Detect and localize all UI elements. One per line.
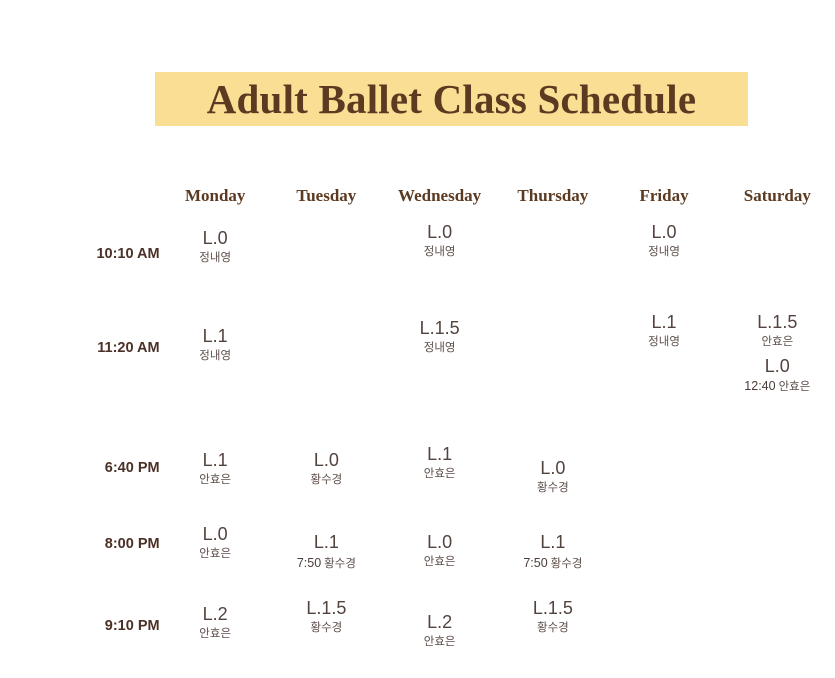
class-instructor: 안효은 [424, 556, 456, 568]
day-header-saturday: Saturday [720, 186, 835, 222]
class-level: L.1 [608, 312, 719, 333]
empty-slot [271, 318, 382, 319]
class-level: L.1 [382, 444, 497, 465]
class-entry[interactable]: L.17:50황수경 [271, 532, 382, 572]
class-instructor: 황수경 [310, 622, 342, 634]
class-entry[interactable]: L.1안효은 [160, 450, 271, 488]
class-meta: 황수경 [271, 473, 382, 488]
class-entry[interactable]: L.1안효은 [382, 444, 497, 482]
class-cell-friday-3 [608, 440, 719, 518]
day-header-tuesday: Tuesday [271, 186, 382, 222]
class-entry[interactable]: L.1.5황수경 [497, 598, 608, 636]
schedule-row: 10:10 AML.0정내영L.0정내영L.0정내영 [0, 222, 835, 314]
class-cell-wednesday-5[interactable]: L.2안효은 [382, 604, 497, 678]
class-cell-tuesday-2 [271, 314, 382, 440]
class-instructor: 황수경 [551, 558, 583, 570]
class-cell-thursday-1 [497, 222, 608, 314]
class-cell-friday-1[interactable]: L.0정내영 [608, 216, 719, 308]
class-level: L.0 [382, 532, 497, 553]
class-cell-thursday-5[interactable]: L.1.5황수경 [497, 590, 608, 664]
class-instructor: 안효은 [424, 636, 456, 648]
class-instructor: 정내영 [648, 246, 680, 258]
class-cell-thursday-2 [497, 314, 608, 440]
class-cell-monday-4[interactable]: L.0안효은 [160, 518, 271, 596]
class-instructor: 안효은 [199, 628, 231, 640]
class-instructor: 안효은 [761, 336, 793, 348]
class-meta: 안효은 [720, 335, 835, 350]
class-entry[interactable]: L.0안효은 [382, 532, 497, 570]
class-level: L.0 [720, 356, 835, 377]
empty-slot [720, 450, 835, 451]
class-meta: 정내영 [608, 245, 719, 260]
class-cell-monday-1[interactable]: L.0정내영 [160, 222, 271, 314]
class-meta: 안효은 [160, 627, 271, 642]
class-entry[interactable]: L.2안효은 [382, 612, 497, 650]
class-instructor: 정내영 [648, 336, 680, 348]
class-instructor: 정내영 [424, 342, 456, 354]
class-instructor: 안효은 [199, 474, 231, 486]
class-meta: 안효은 [160, 547, 271, 562]
class-meta: 정내영 [160, 251, 271, 266]
class-meta: 안효은 [382, 635, 497, 650]
class-level: L.1.5 [720, 312, 835, 333]
class-cell-tuesday-5[interactable]: L.1.5황수경 [271, 590, 382, 664]
class-entry[interactable]: L.0안효은 [160, 524, 271, 562]
class-level: L.0 [271, 450, 382, 471]
class-cell-wednesday-1[interactable]: L.0정내영 [382, 216, 497, 308]
class-cell-monday-2[interactable]: L.1정내영 [160, 322, 271, 448]
schedule-table: Monday Tuesday Wednesday Thursday Friday… [0, 186, 835, 670]
class-cell-saturday-3 [720, 440, 835, 518]
class-entry[interactable]: L.1정내영 [608, 312, 719, 350]
class-instructor: 황수경 [310, 474, 342, 486]
class-meta: 7:50황수경 [271, 555, 382, 572]
class-instructor: 정내영 [424, 246, 456, 258]
class-meta: 황수경 [497, 481, 608, 496]
class-cell-saturday-5 [720, 596, 835, 670]
class-instructor: 안효은 [424, 468, 456, 480]
class-entry[interactable]: L.0황수경 [497, 458, 608, 496]
empty-slot [271, 228, 382, 229]
class-entry[interactable]: L.1정내영 [160, 326, 271, 364]
day-header-monday: Monday [160, 186, 271, 222]
schedule-row: 11:20 AML.1정내영L.1.5정내영L.1정내영L.1.5안효은L.01… [0, 314, 835, 440]
class-meta: 안효은 [382, 555, 497, 570]
schedule-row: 9:10 PML.2안효은L.1.5황수경L.2안효은L.1.5황수경 [0, 596, 835, 670]
schedule-table-container: Monday Tuesday Wednesday Thursday Friday… [0, 186, 835, 670]
class-level: L.1 [160, 326, 271, 347]
empty-slot [608, 524, 719, 525]
class-level: L.0 [160, 524, 271, 545]
class-meta: 황수경 [497, 621, 608, 636]
time-label-4: 8:00 PM [0, 518, 160, 596]
class-level: L.1.5 [382, 318, 497, 339]
time-label-3: 6:40 PM [0, 440, 160, 518]
class-level: L.1 [160, 450, 271, 471]
class-level: L.2 [160, 604, 271, 625]
class-entry[interactable]: L.1.5황수경 [271, 598, 382, 636]
class-cell-saturday-4 [720, 518, 835, 596]
class-level: L.0 [497, 458, 608, 479]
class-cell-friday-5 [608, 596, 719, 670]
class-instructor: 황수경 [324, 558, 356, 570]
class-instructor: 안효은 [199, 548, 231, 560]
class-entry[interactable]: L.2안효은 [160, 604, 271, 642]
class-level: L.1.5 [271, 598, 382, 619]
empty-slot [497, 318, 608, 319]
class-cell-friday-2[interactable]: L.1정내영 [608, 308, 719, 434]
time-label-1: 10:10 AM [0, 222, 160, 314]
class-level: L.1.5 [497, 598, 608, 619]
class-cell-thursday-3[interactable]: L.0황수경 [497, 448, 608, 526]
empty-slot [608, 450, 719, 451]
class-cell-tuesday-1 [271, 222, 382, 314]
class-meta: 정내영 [382, 245, 497, 260]
class-cell-wednesday-4[interactable]: L.0안효은 [382, 526, 497, 604]
class-entry[interactable]: L.012:40안효은 [720, 356, 835, 396]
schedule-row: 8:00 PML.0안효은L.17:50황수경L.0안효은L.17:50황수경 [0, 518, 835, 596]
header-corner-blank [0, 186, 160, 222]
class-meta: 정내영 [608, 335, 719, 350]
class-cell-tuesday-3[interactable]: L.0황수경 [271, 440, 382, 518]
title-banner: Adult Ballet Class Schedule [155, 72, 748, 126]
empty-slot [720, 604, 835, 605]
class-level: L.0 [382, 222, 497, 243]
class-cell-wednesday-2[interactable]: L.1.5정내영 [382, 314, 497, 440]
class-entry[interactable]: L.0정내영 [382, 222, 497, 260]
class-cell-monday-5[interactable]: L.2안효은 [160, 596, 271, 670]
class-cell-monday-3[interactable]: L.1안효은 [160, 440, 271, 518]
class-start-time: 12:40 [744, 379, 775, 393]
class-level: L.1 [271, 532, 382, 553]
class-cell-saturday-1 [720, 222, 835, 314]
class-start-time: 7:50 [297, 556, 321, 570]
class-meta: 황수경 [271, 621, 382, 636]
empty-slot [608, 604, 719, 605]
class-level: L.0 [608, 222, 719, 243]
class-cell-wednesday-3[interactable]: L.1안효은 [382, 434, 497, 512]
class-level: L.1 [497, 532, 608, 553]
time-label-2: 11:20 AM [0, 314, 160, 440]
class-instructor: 안효은 [779, 381, 811, 393]
class-instructor: 황수경 [537, 622, 569, 634]
class-entry[interactable]: L.0황수경 [271, 450, 382, 488]
schedule-row: 6:40 PML.1안효은L.0황수경L.1안효은L.0황수경 [0, 440, 835, 518]
page-title: Adult Ballet Class Schedule [207, 79, 697, 120]
class-start-time: 7:50 [523, 556, 547, 570]
empty-slot [720, 524, 835, 525]
empty-slot [497, 228, 608, 229]
empty-slot [720, 228, 835, 229]
day-header-thursday: Thursday [497, 186, 608, 222]
class-meta: 12:40안효은 [720, 378, 835, 395]
class-level: L.0 [160, 228, 271, 249]
class-meta: 정내영 [160, 349, 271, 364]
class-entry[interactable]: L.17:50황수경 [497, 532, 608, 572]
class-meta: 안효은 [382, 467, 497, 482]
class-cell-saturday-2[interactable]: L.1.5안효은L.012:40안효은 [720, 308, 835, 434]
class-meta: 안효은 [160, 473, 271, 488]
schedule-body: 10:10 AML.0정내영L.0정내영L.0정내영11:20 AML.1정내영… [0, 222, 835, 670]
class-entry[interactable]: L.1.5정내영 [382, 318, 497, 356]
class-entry[interactable]: L.0정내영 [160, 228, 271, 266]
class-level: L.2 [382, 612, 497, 633]
class-entry[interactable]: L.0정내영 [608, 222, 719, 260]
time-label-5: 9:10 PM [0, 596, 160, 670]
class-meta: 7:50황수경 [497, 555, 608, 572]
class-meta: 정내영 [382, 341, 497, 356]
class-instructor: 정내영 [199, 252, 231, 264]
class-instructor: 황수경 [537, 482, 569, 494]
class-entry[interactable]: L.1.5안효은 [720, 312, 835, 350]
class-cell-friday-4 [608, 518, 719, 596]
class-instructor: 정내영 [199, 350, 231, 362]
